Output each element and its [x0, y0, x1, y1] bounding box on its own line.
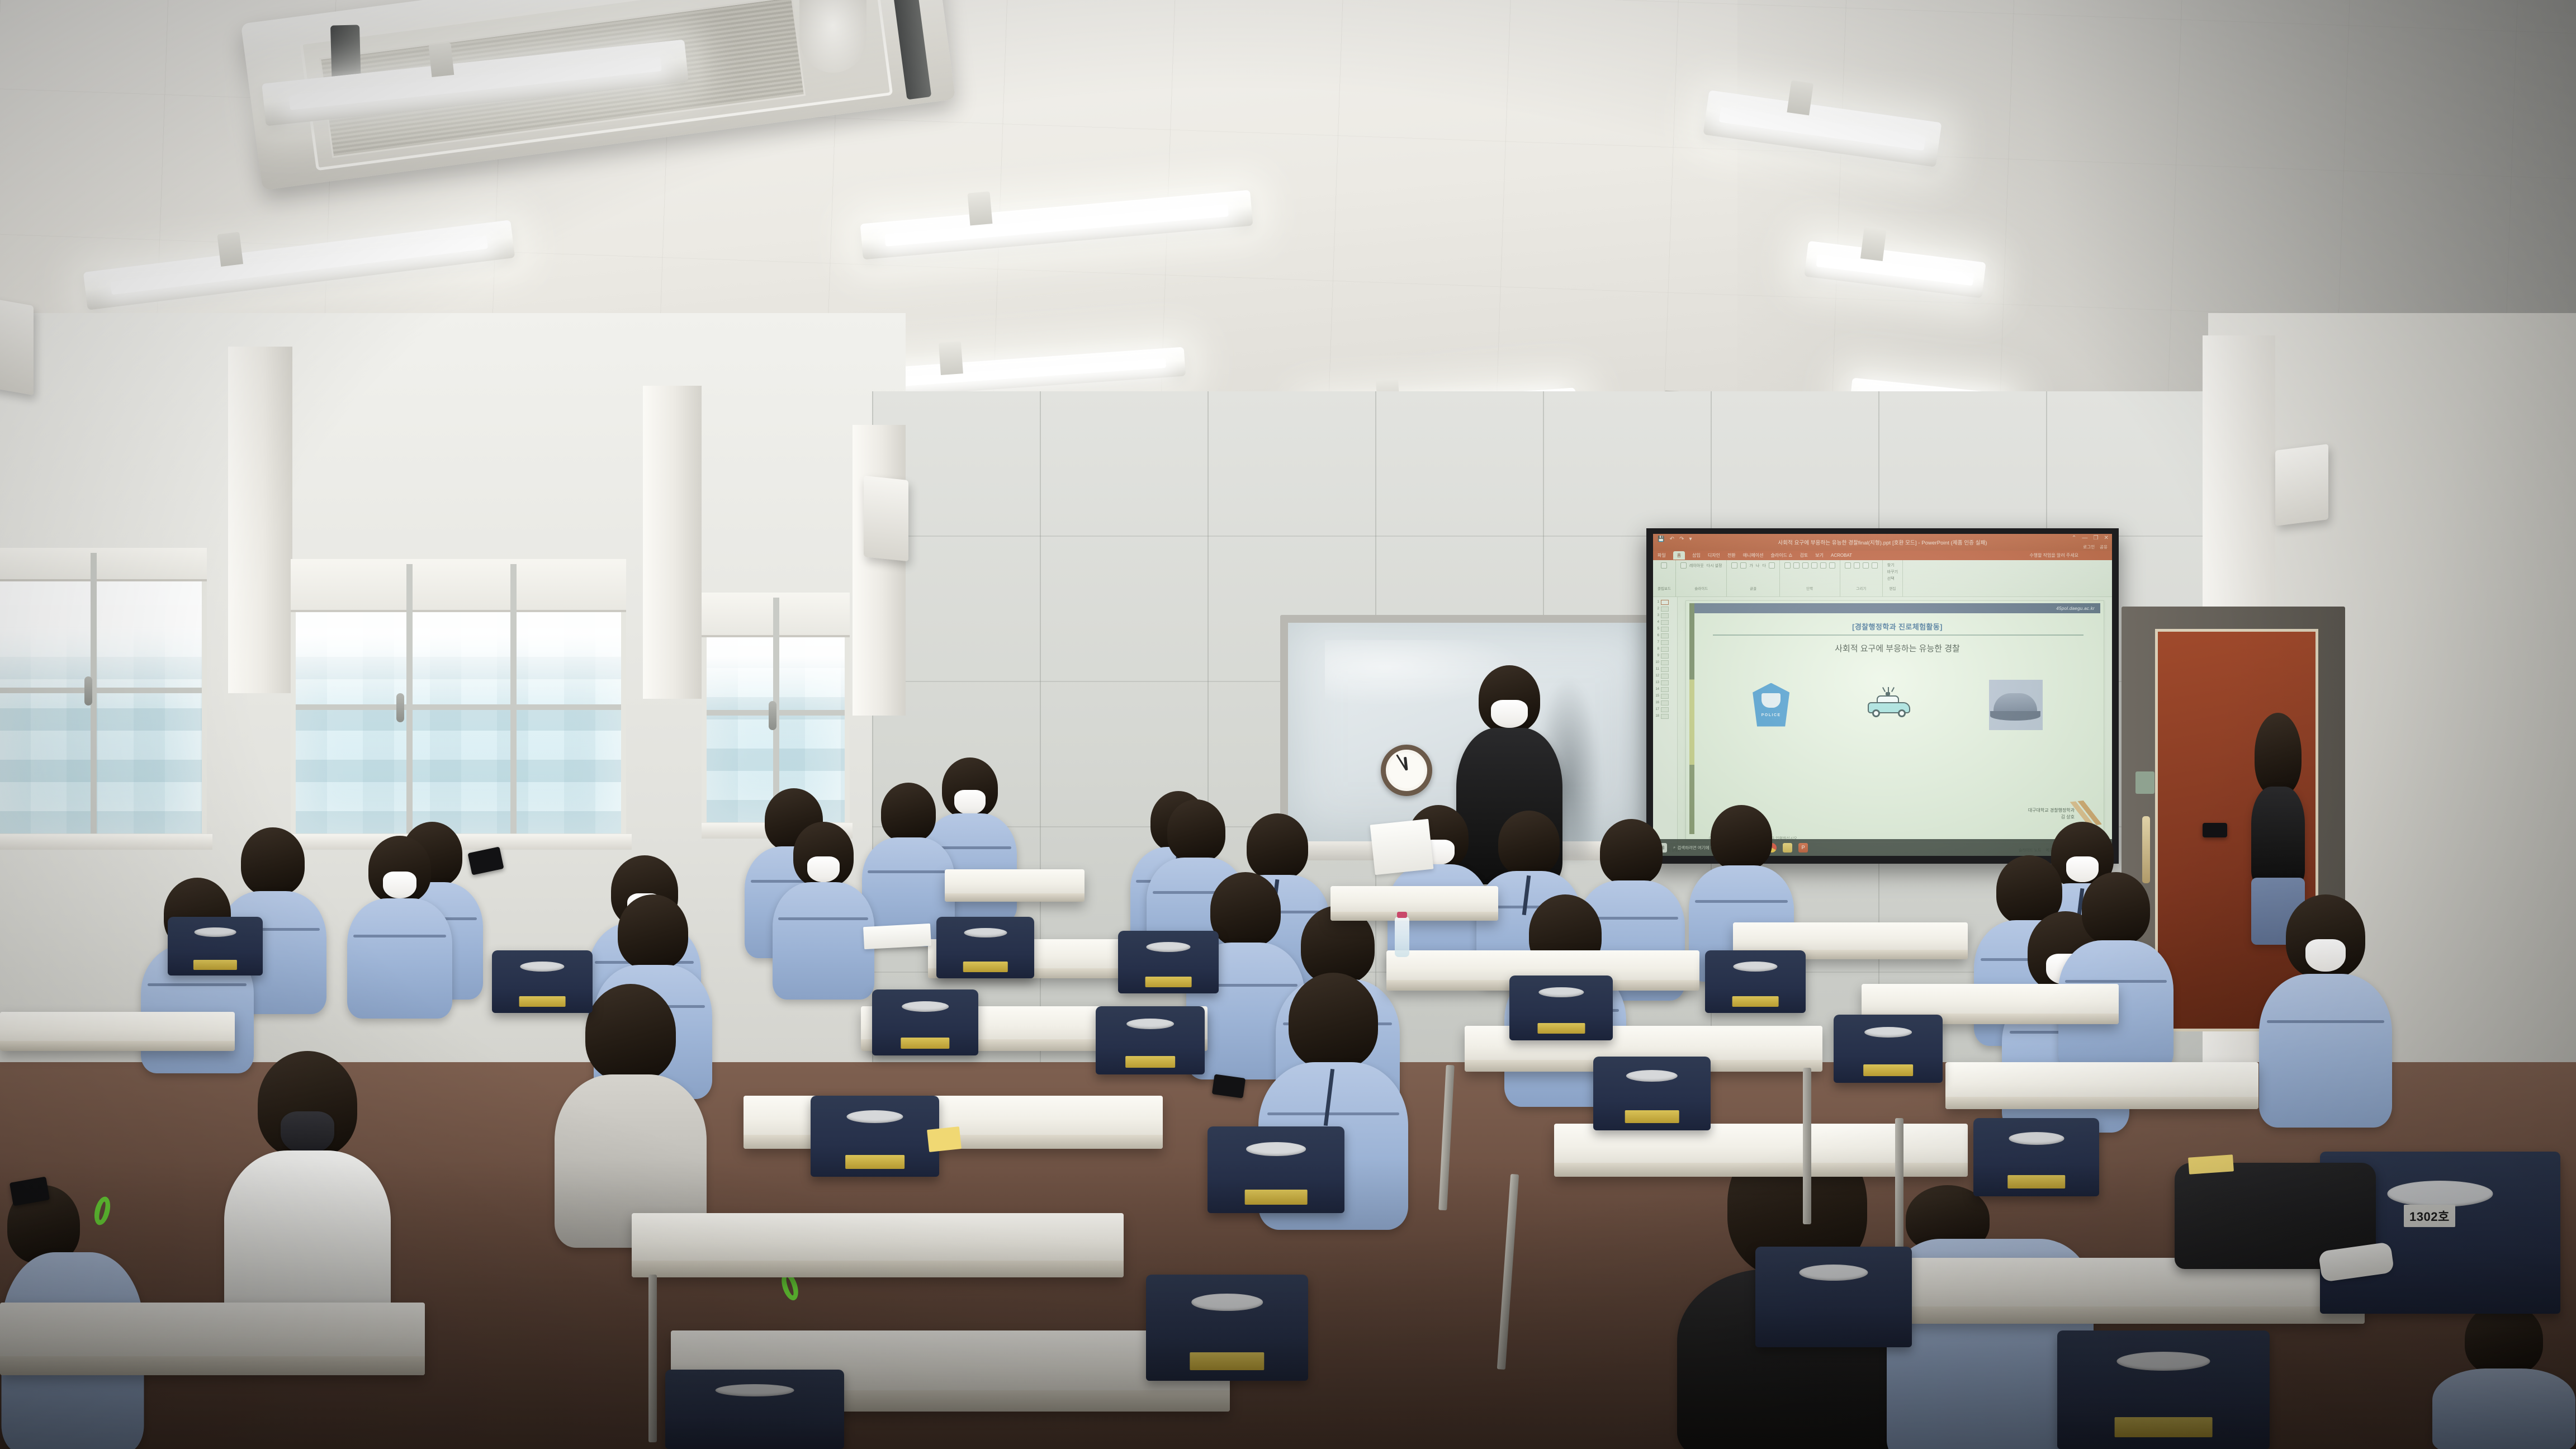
- find-icon[interactable]: 찾기: [1887, 562, 1895, 568]
- share-label[interactable]: 공유: [2100, 544, 2108, 550]
- student-row3-9: [2057, 872, 2175, 1068]
- student-head: [1600, 819, 1663, 885]
- group-label-paragraph: 단락: [1806, 585, 1813, 591]
- presenter-face-mask: [1491, 700, 1528, 728]
- tell-me-search[interactable]: 수행할 작업을 알려 주세요: [2029, 552, 2078, 558]
- tab-transitions[interactable]: 전환: [1727, 552, 1736, 558]
- slide-thumbnail-panel[interactable]: 1 2 3 4 5 6 7 8 9 10 11 12 13 14 15 16 1: [1653, 597, 1678, 844]
- new-slide-icon[interactable]: [1680, 562, 1687, 569]
- chair-5[interactable]: [1509, 976, 1613, 1040]
- powerpoint-taskbar-icon[interactable]: P: [1798, 843, 1808, 853]
- student-row3-8: [2258, 894, 2393, 1124]
- slide-thumbnail[interactable]: 4: [1653, 619, 1677, 626]
- student-row4-3: [224, 1051, 391, 1330]
- bold-icon[interactable]: 가: [1749, 563, 1753, 569]
- student-head: [585, 984, 676, 1081]
- chair-1[interactable]: [936, 917, 1034, 978]
- chair-9[interactable]: [811, 1096, 939, 1177]
- slide-accent-bar: [1689, 603, 1694, 834]
- chair-6[interactable]: [1705, 950, 1806, 1013]
- close-icon[interactable]: ✕: [2104, 535, 2109, 541]
- tab-file[interactable]: 파일: [1658, 552, 1666, 558]
- student-torso: [2432, 1368, 2575, 1449]
- tab-view[interactable]: 보기: [1815, 552, 1824, 558]
- tab-insert[interactable]: 삽입: [1692, 552, 1701, 558]
- group-label-drawing: 그리기: [1856, 585, 1866, 591]
- window-blind-2[interactable]: [291, 559, 626, 612]
- group-label-font: 글꼴: [1750, 585, 1756, 591]
- minimize-icon[interactable]: —: [2082, 535, 2087, 541]
- student-mask-black: [281, 1111, 334, 1154]
- font-size-box[interactable]: [1740, 562, 1746, 569]
- window-controls[interactable]: ⌃ — ❐ ✕: [2072, 535, 2109, 541]
- chair-16[interactable]: [492, 950, 593, 1013]
- slide-thumbnail[interactable]: 17: [1653, 706, 1677, 713]
- pillar-3: [853, 425, 906, 716]
- chair-2[interactable]: [1118, 931, 1219, 993]
- font-color-icon[interactable]: [1769, 562, 1775, 569]
- chair-8[interactable]: [1834, 1015, 1943, 1083]
- wall-speaker-2: [864, 476, 908, 561]
- slide-thumbnail[interactable]: 15: [1653, 693, 1677, 699]
- wall-speaker-1: [0, 298, 34, 395]
- ribbon-tab-strip[interactable]: 파일 홈 삽입 디자인 전환 애니메이션 슬라이드 쇼 검토 보기 ACROBA…: [1653, 551, 2112, 560]
- slide-thumbnail[interactable]: 6: [1653, 632, 1677, 639]
- slide-thumbnail[interactable]: 5: [1653, 626, 1677, 632]
- assistant-smartphone[interactable]: [2203, 823, 2227, 837]
- chair-7[interactable]: [1593, 1057, 1711, 1130]
- student-head: [1498, 811, 1560, 875]
- align-left-icon[interactable]: [1802, 562, 1808, 569]
- slide-artwork: POLICE: [1714, 673, 2081, 737]
- door-plate: [2135, 771, 2154, 794]
- pillar-2: [643, 386, 702, 699]
- slide-watermark-url: 45pol.daegu.ac.kr: [2056, 606, 2095, 611]
- desk-leg-5: [1895, 1118, 1903, 1258]
- desk-row1-left: [945, 869, 1085, 902]
- student-head: [1167, 799, 1225, 862]
- student-head: [618, 894, 688, 969]
- chair-3[interactable]: [872, 989, 978, 1055]
- align-center-icon[interactable]: [1811, 562, 1817, 569]
- ribbon-group-font[interactable]: 가 나 다 글꼴: [1727, 560, 1779, 596]
- slide-thumbnail[interactable]: 12: [1653, 673, 1677, 679]
- student-mask: [954, 790, 986, 815]
- bullets-icon[interactable]: [1784, 562, 1791, 569]
- signin-label[interactable]: 로그인: [2083, 544, 2095, 550]
- desk-row1-right: [1330, 886, 1498, 921]
- group-label-clipboard: 클립보드: [1658, 585, 1671, 591]
- desk-leg-2: [1803, 1068, 1811, 1224]
- restore-icon[interactable]: ❐: [2093, 535, 2098, 541]
- paste-icon[interactable]: [1661, 562, 1667, 569]
- assistant-head: [2255, 713, 2302, 795]
- chair-17[interactable]: [665, 1370, 844, 1449]
- student-head: [1247, 813, 1308, 879]
- ribbon-group-slides[interactable]: 레이아웃 다시 설정 슬라이드: [1676, 560, 1727, 596]
- desk-leg-4: [648, 1275, 657, 1442]
- redo-icon[interactable]: ↷: [1679, 536, 1684, 542]
- numbering-icon[interactable]: [1793, 562, 1800, 569]
- slide-thumbnail[interactable]: 9: [1653, 652, 1677, 659]
- slide-thumbnail[interactable]: 16: [1653, 699, 1677, 706]
- save-icon[interactable]: 💾: [1658, 536, 1665, 542]
- quick-access-toolbar[interactable]: 💾 ↶ ↷ ▾: [1658, 536, 1692, 542]
- shapes-icon[interactable]: [1845, 562, 1851, 569]
- tab-acrobat[interactable]: ACROBAT: [1831, 553, 1852, 558]
- slide-thumbnail[interactable]: 3: [1653, 612, 1677, 619]
- smoke-detector-icon: [799, 0, 866, 73]
- ac-vent-right: [891, 0, 932, 100]
- chair-room-label: 1302호: [2404, 1205, 2455, 1227]
- replace-icon[interactable]: 바꾸기: [1887, 569, 1898, 575]
- handout-papers[interactable]: [1370, 819, 1434, 875]
- window-blind-1[interactable]: [0, 548, 207, 581]
- undo-icon[interactable]: ↶: [1670, 536, 1674, 542]
- group-label-editing: 편집: [1889, 585, 1896, 591]
- slide-title: [경찰행정학과 진로체험활동]: [1694, 621, 2100, 632]
- student-phone-3[interactable]: [1212, 1074, 1246, 1098]
- line-spacing-icon[interactable]: [1820, 562, 1826, 569]
- window-sill-1: [0, 834, 212, 850]
- columns-icon[interactable]: [1829, 562, 1835, 569]
- desk-row5-a: [632, 1213, 1124, 1277]
- slide-header-bar: 45pol.daegu.ac.kr: [1694, 603, 2100, 613]
- chair-10[interactable]: [1207, 1126, 1344, 1213]
- slide-thumbnail[interactable]: 7: [1653, 639, 1677, 646]
- slide-thumbnail[interactable]: 11: [1653, 666, 1677, 673]
- student-mask: [807, 856, 840, 882]
- underline-icon[interactable]: 다: [1762, 563, 1765, 569]
- student-torso: [2259, 974, 2392, 1128]
- tab-slideshow[interactable]: 슬라이드 쇼: [1770, 552, 1792, 558]
- student-head: [2082, 872, 2150, 945]
- chair-11[interactable]: [1973, 1118, 2099, 1196]
- account-area[interactable]: 로그인 공유: [2083, 544, 2108, 550]
- wall-speaker-3: [2275, 444, 2328, 526]
- font-name-box[interactable]: [1731, 562, 1737, 569]
- slide-thumbnail[interactable]: 2: [1653, 605, 1677, 612]
- student-back-6: [771, 822, 875, 995]
- chair-18[interactable]: [1755, 1247, 1912, 1347]
- pillar-1: [228, 347, 292, 693]
- select-icon[interactable]: 선택: [1887, 576, 1895, 581]
- window-2: [291, 559, 626, 839]
- student-head: [1210, 872, 1281, 947]
- window-title: 사회적 요구에 부응하는 유능한 경찰final(지형).ppt [호환 모드]…: [1778, 538, 1987, 546]
- student-head: [881, 783, 936, 842]
- chair-4[interactable]: [1096, 1006, 1205, 1074]
- ribbon[interactable]: 클립보드 레이아웃 다시 설정 슬라이드 가 나: [1653, 560, 2112, 597]
- slide-thumbnail[interactable]: 18: [1653, 713, 1677, 719]
- arrange-icon[interactable]: [1854, 562, 1860, 569]
- shape-fill-icon[interactable]: [1872, 562, 1878, 569]
- slide-thumbnail[interactable]: 10: [1653, 659, 1677, 666]
- ribbon-group-drawing[interactable]: 그리기: [1840, 560, 1883, 596]
- chair-14[interactable]: [2057, 1330, 2270, 1449]
- chair-12[interactable]: [1146, 1275, 1308, 1381]
- slide-thumbnail[interactable]: 8: [1653, 646, 1677, 652]
- assistant-torso: [2251, 787, 2305, 884]
- wall-clock-icon: [1381, 745, 1432, 796]
- police-car-icon: [1867, 692, 1911, 718]
- italic-icon[interactable]: 나: [1756, 563, 1759, 569]
- student-torso: [347, 898, 452, 1019]
- water-bottle[interactable]: [1395, 917, 1409, 957]
- tab-home[interactable]: 홈: [1673, 551, 1685, 560]
- student-head: [1289, 973, 1378, 1069]
- qat-dropdown-icon[interactable]: ▾: [1689, 536, 1692, 542]
- desk-row6-a: [0, 1303, 425, 1375]
- police-badge-icon: POLICE: [1753, 683, 1789, 727]
- tab-review[interactable]: 검토: [1800, 552, 1808, 558]
- student-head: [1711, 805, 1772, 870]
- window-1: [0, 548, 207, 839]
- layout-label[interactable]: 레이아웃: [1689, 563, 1704, 569]
- group-label-slides: 슬라이드: [1694, 585, 1708, 591]
- powerpoint-title-bar: 💾 ↶ ↷ ▾ 사회적 요구에 부응하는 유능한 경찰final(지형).ppt…: [1653, 534, 2112, 551]
- reset-label[interactable]: 다시 설정: [1707, 563, 1722, 569]
- slide-thumbnail[interactable]: 1: [1653, 599, 1677, 605]
- current-slide[interactable]: 45pol.daegu.ac.kr [경찰행정학과 진로체험활동] 사회적 요구…: [1685, 600, 2104, 840]
- assistant-by-door: [2242, 713, 2314, 903]
- quick-styles-icon[interactable]: [1863, 562, 1869, 569]
- ribbon-group-editing[interactable]: 찾기 바꾸기 선택 편집: [1883, 560, 1903, 596]
- desk-row4-b: [1554, 1124, 1968, 1177]
- slide-thumbnail[interactable]: 13: [1653, 679, 1677, 686]
- ribbon-group-clipboard[interactable]: 클립보드: [1653, 560, 1676, 596]
- student-row4-6: [2432, 1303, 2576, 1449]
- police-cap-icon: [1989, 680, 2043, 730]
- ribbon-group-paragraph[interactable]: 단락: [1780, 560, 1840, 596]
- ribbon-options-icon[interactable]: ⌃: [2072, 535, 2076, 541]
- notebook[interactable]: [863, 924, 931, 949]
- sticky-note-2[interactable]: [2188, 1154, 2234, 1175]
- tab-animations[interactable]: 애니메이션: [1743, 552, 1764, 558]
- slide-divider: [1713, 634, 2083, 636]
- slide-subtitle: 사회적 요구에 부응하는 유능한 경찰: [1694, 642, 2100, 654]
- desk-left-window: [0, 1012, 235, 1051]
- student-mask: [383, 872, 416, 898]
- desk-row4-c: [1945, 1062, 2258, 1109]
- student-mask: [2305, 939, 2346, 972]
- slide-thumbnail[interactable]: 14: [1653, 686, 1677, 693]
- chair-15[interactable]: [168, 917, 263, 976]
- tab-design[interactable]: 디자인: [1708, 552, 1720, 558]
- student-row4-2: [553, 984, 707, 1241]
- classroom-scene: 💾 ↶ ↷ ▾ 사회적 요구에 부응하는 유능한 경찰final(지형).ppt…: [0, 0, 2576, 1449]
- student-left-1: [347, 836, 453, 1015]
- sticky-note[interactable]: [927, 1126, 962, 1152]
- student-torso: [773, 882, 874, 1000]
